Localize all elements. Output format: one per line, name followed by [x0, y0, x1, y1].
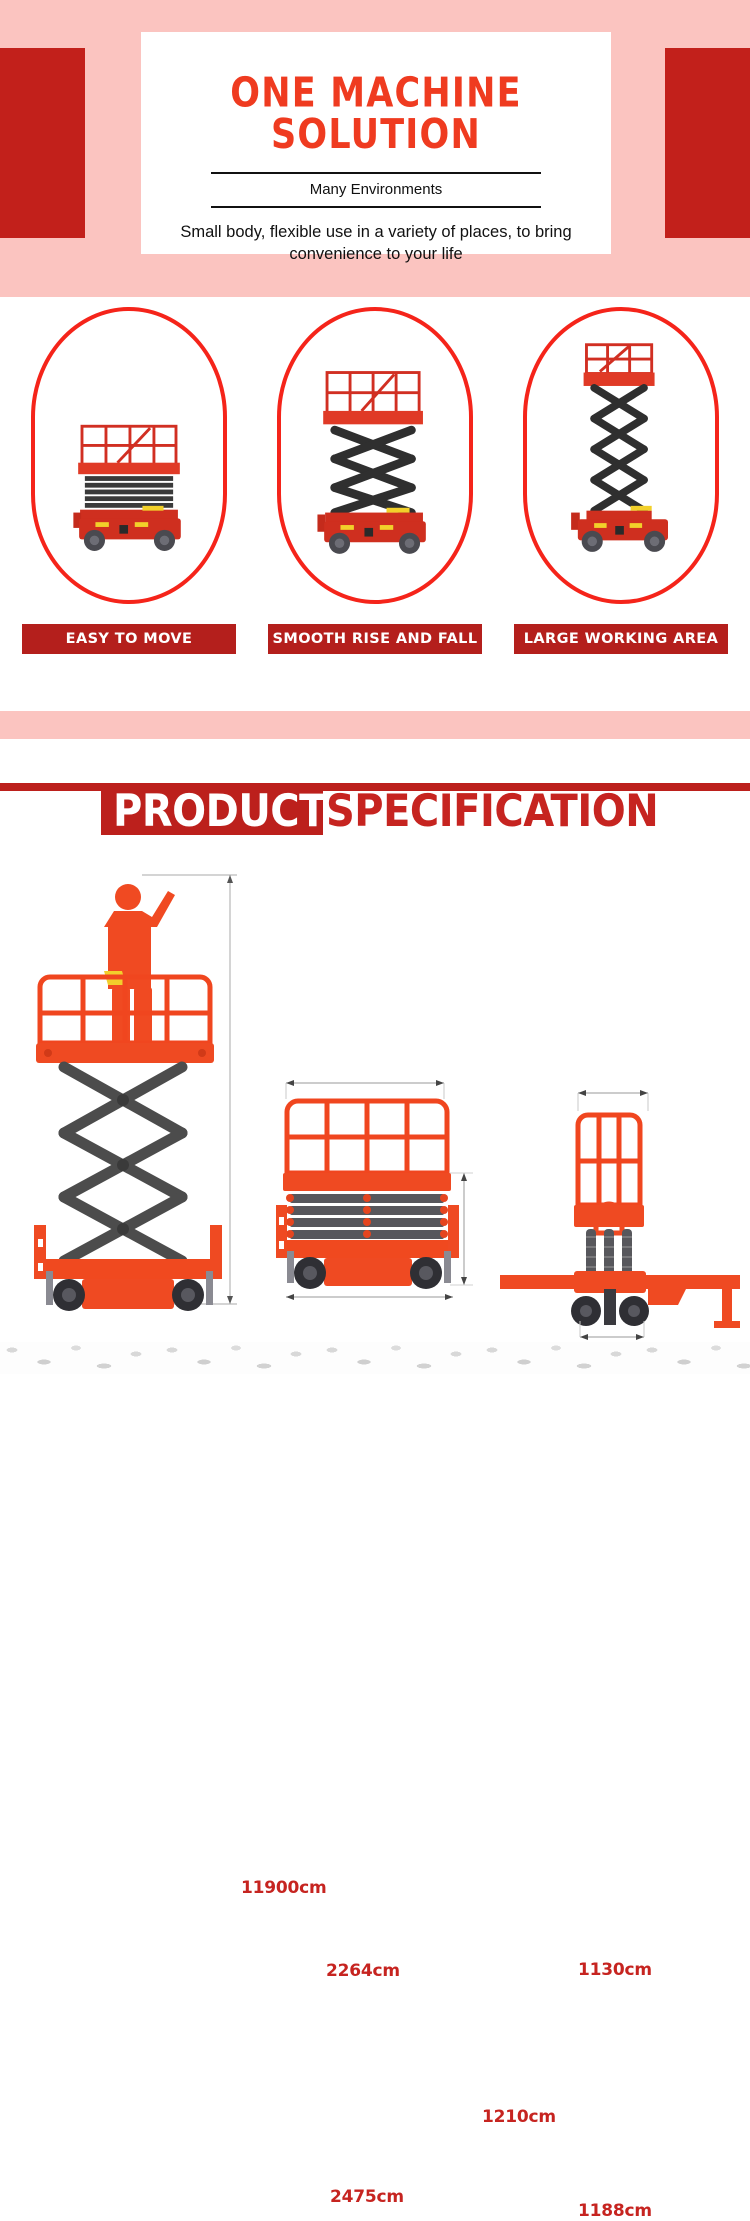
feature-image-frame — [31, 307, 227, 604]
hero-title: ONE MACHINE SOLUTION — [141, 74, 611, 157]
dimension-label-overall-length: 2475cm — [330, 2187, 404, 2207]
feature-label: SMOOTH RISE AND FALL — [268, 624, 482, 654]
hero-decor-block-left — [0, 48, 85, 238]
dimension-label-platform-width: 1130cm — [578, 1960, 652, 1980]
feature-card-list: EASY TO MOVE — [0, 297, 750, 711]
feature-card[interactable]: EASY TO MOVE — [18, 307, 240, 711]
feature-image-frame — [277, 307, 473, 604]
hero-divider-bottom — [211, 206, 541, 208]
dimension-label-working-height: 11900cm — [241, 1878, 327, 1898]
hero-subtitle-group: Many Environments — [211, 172, 541, 208]
scissor-lift-lowered-photo — [35, 311, 223, 600]
spec-title-section: PRODUCTSPECIFICATION — [0, 739, 750, 857]
feature-label: LARGE WORKING AREA — [514, 624, 728, 654]
section-divider-strip — [0, 711, 750, 739]
product-page: ONE MACHINE SOLUTION Many Environments S… — [0, 0, 750, 1374]
feature-card[interactable]: SMOOTH RISE AND FALL — [264, 307, 486, 711]
elevated-side-view-diagram — [22, 867, 252, 1357]
scissor-lift-fully-raised-photo — [527, 311, 715, 600]
dimension-label-overall-width: 1188cm — [578, 2201, 652, 2221]
hero-decor-block-right — [665, 48, 750, 238]
hero-banner: ONE MACHINE SOLUTION Many Environments S… — [0, 0, 750, 297]
hero-subtitle: Many Environments — [211, 174, 541, 206]
spec-title-secondary: SPECIFICATION — [326, 786, 658, 838]
dimension-label-platform-length: 2264cm — [326, 1961, 400, 1981]
hero-card: ONE MACHINE SOLUTION Many Environments S… — [141, 32, 611, 254]
spec-title: PRODUCTSPECIFICATION — [113, 787, 658, 836]
spec-title-primary: PRODUCT — [113, 786, 326, 838]
scissor-lift-mid-raised-photo — [281, 311, 469, 600]
dimension-label-lowered-height: 1210cm — [482, 2107, 556, 2127]
lowered-side-view-diagram — [268, 1077, 483, 1357]
feature-card[interactable]: LARGE WORKING AREA — [510, 307, 732, 711]
feature-image-frame — [523, 307, 719, 604]
hero-description: Small body, flexible use in a variety of… — [166, 221, 586, 266]
front-view-diagram — [500, 1085, 750, 1357]
spec-diagram-section: 11900cm — [0, 857, 750, 1374]
feature-label: EASY TO MOVE — [22, 624, 236, 654]
